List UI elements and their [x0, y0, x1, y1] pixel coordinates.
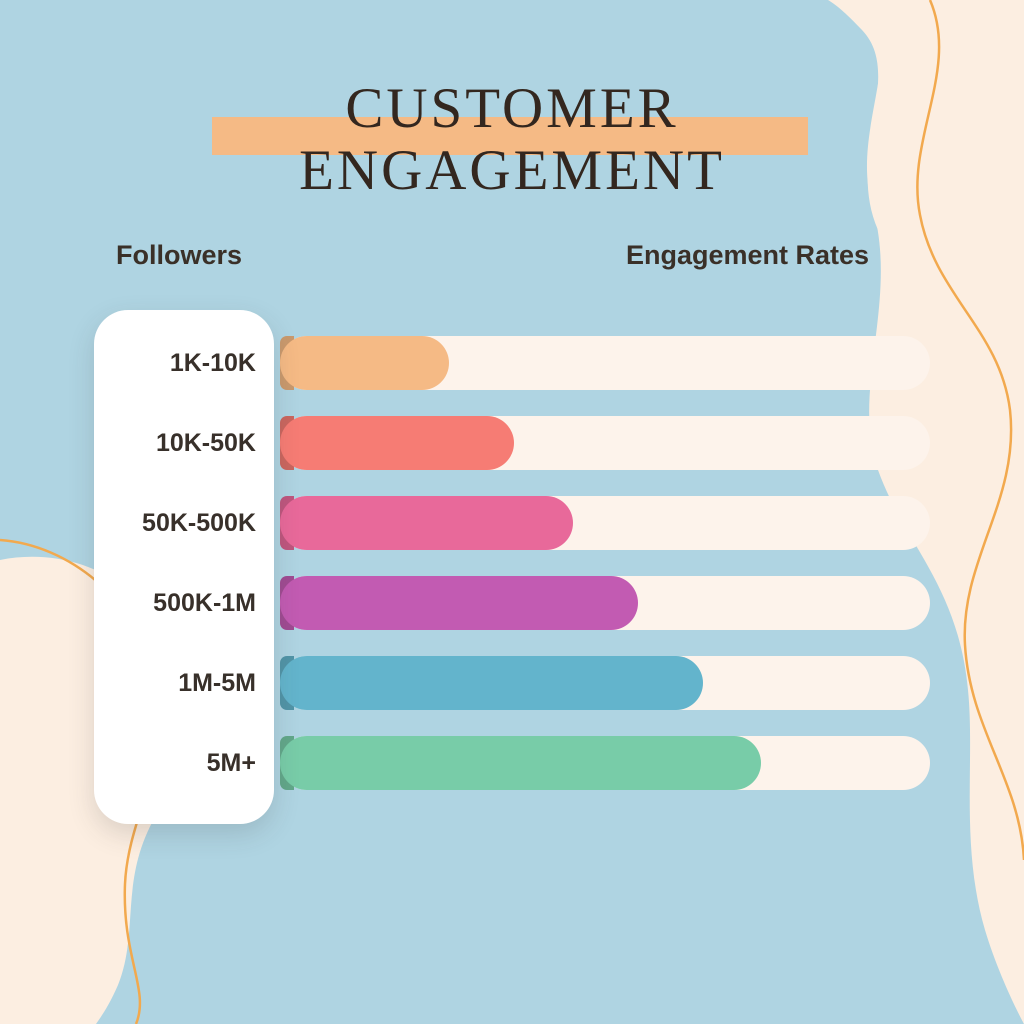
bar-row: [280, 736, 930, 790]
bar-row: [280, 576, 930, 630]
bar-fill: [280, 496, 573, 550]
bar-fill: [280, 336, 449, 390]
bar-label: 1M-5M: [178, 656, 256, 710]
bar-row: [280, 336, 930, 390]
infographic-poster: CUSTOMER ENGAGEMENT Followers Engagement…: [0, 0, 1024, 1024]
bar-label: 10K-50K: [156, 416, 256, 470]
bar-fill: [280, 416, 514, 470]
bar-row: [280, 656, 930, 710]
bar-label: 500K-1M: [153, 576, 256, 630]
bar-fill: [280, 736, 761, 790]
bar-label: 50K-500K: [142, 496, 256, 550]
bar-label: 1K-10K: [170, 336, 256, 390]
bar-row: [280, 416, 930, 470]
bar-label: 5M+: [207, 736, 256, 790]
bar-fill: [280, 656, 703, 710]
bar-fill: [280, 576, 638, 630]
bar-row: [280, 496, 930, 550]
followers-label-card: 1K-10K 10K-50K 50K-500K 500K-1M 1M-5M 5M…: [94, 310, 274, 824]
